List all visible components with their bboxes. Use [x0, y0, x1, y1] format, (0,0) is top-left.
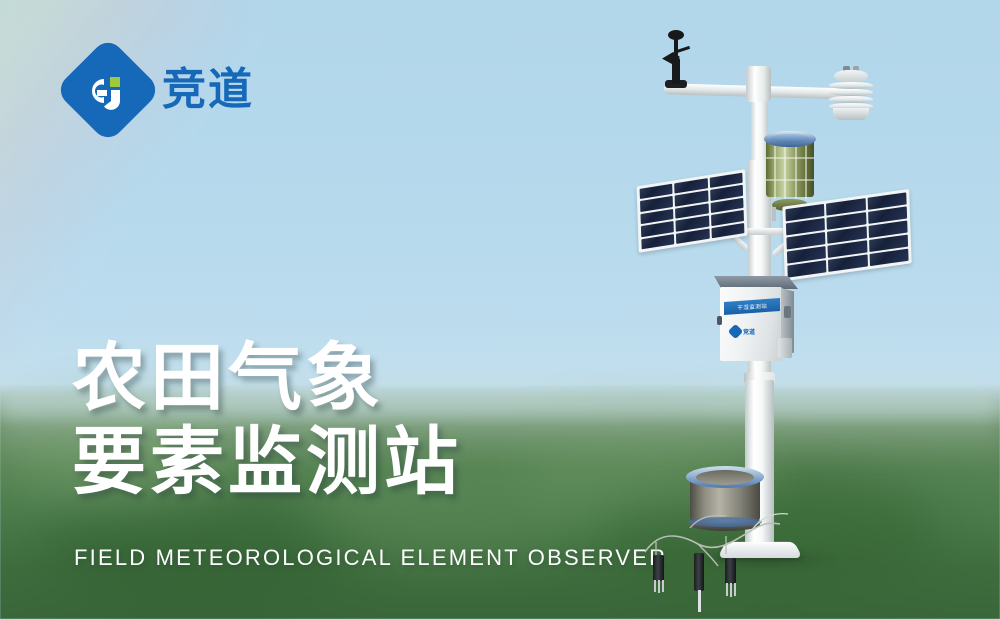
title-line-1: 农田气象: [72, 336, 462, 420]
control-box-logo-icon: [728, 324, 744, 340]
gauge-rib: [774, 141, 776, 199]
gauge-hoop: [766, 179, 814, 181]
gauge-rib: [805, 141, 807, 199]
probe-body: [653, 555, 664, 581]
control-box-label-text: 干湿监测站: [737, 301, 767, 311]
gauge-rib: [795, 141, 797, 199]
radiation-shield: [829, 76, 873, 114]
brand-logo-text: 竞道: [162, 68, 254, 112]
solar-cell: [869, 249, 908, 267]
control-box-latch: [717, 316, 722, 325]
probe-pin: [730, 583, 732, 597]
panel-column: [674, 178, 709, 244]
control-box: 干湿监测站 竞道: [714, 276, 798, 362]
control-box-logo: 竞道: [730, 326, 755, 337]
shield-base: [833, 108, 869, 120]
probe-pin: [734, 583, 736, 596]
brand-logo: 竞道: [70, 52, 254, 128]
cylinder-inner: [696, 470, 754, 485]
probe-body: [725, 558, 736, 584]
panel-column: [785, 204, 826, 278]
shield-plate: [829, 89, 873, 96]
rain-gauge-cylinder: [766, 131, 814, 207]
panel-column: [826, 198, 867, 272]
shield-plate: [829, 82, 873, 89]
solar-cell: [828, 254, 867, 272]
page-subtitle: FIELD METEOROLOGICAL ELEMENT OBSERVER: [74, 545, 667, 571]
hero-banner: 竞道 农田气象 要素监测站 FIELD METEOROLOGICAL ELEME…: [0, 0, 1000, 619]
probe-pin: [654, 580, 656, 592]
jingdao-diamond-logo-icon: [70, 52, 146, 128]
shield-plate: [829, 96, 873, 103]
panel-column: [867, 192, 908, 266]
gauge-leg: [772, 207, 776, 221]
control-box-vent: [784, 306, 791, 318]
probe-pin: [658, 580, 660, 593]
control-box-logo-text: 竞道: [743, 327, 755, 336]
logo-monogram-icon: [70, 52, 146, 128]
probe-pin: [698, 590, 701, 612]
page-title: 农田气象 要素监测站: [72, 336, 462, 504]
shield-top-cap: [834, 70, 868, 82]
anemometer-cup-icon: [668, 30, 684, 40]
gauge-hoop: [766, 157, 814, 159]
probe-body: [694, 553, 704, 591]
panel-column: [709, 173, 744, 239]
probe-pin: [726, 583, 728, 596]
gauge-rib: [784, 141, 786, 199]
gauge-cap-inner: [770, 134, 810, 143]
panel-column: [640, 184, 675, 250]
title-line-2: 要素监测站: [72, 420, 462, 504]
crossarm-hub: [746, 66, 771, 102]
probe-pin: [662, 580, 664, 592]
control-box-mount: [778, 338, 792, 358]
